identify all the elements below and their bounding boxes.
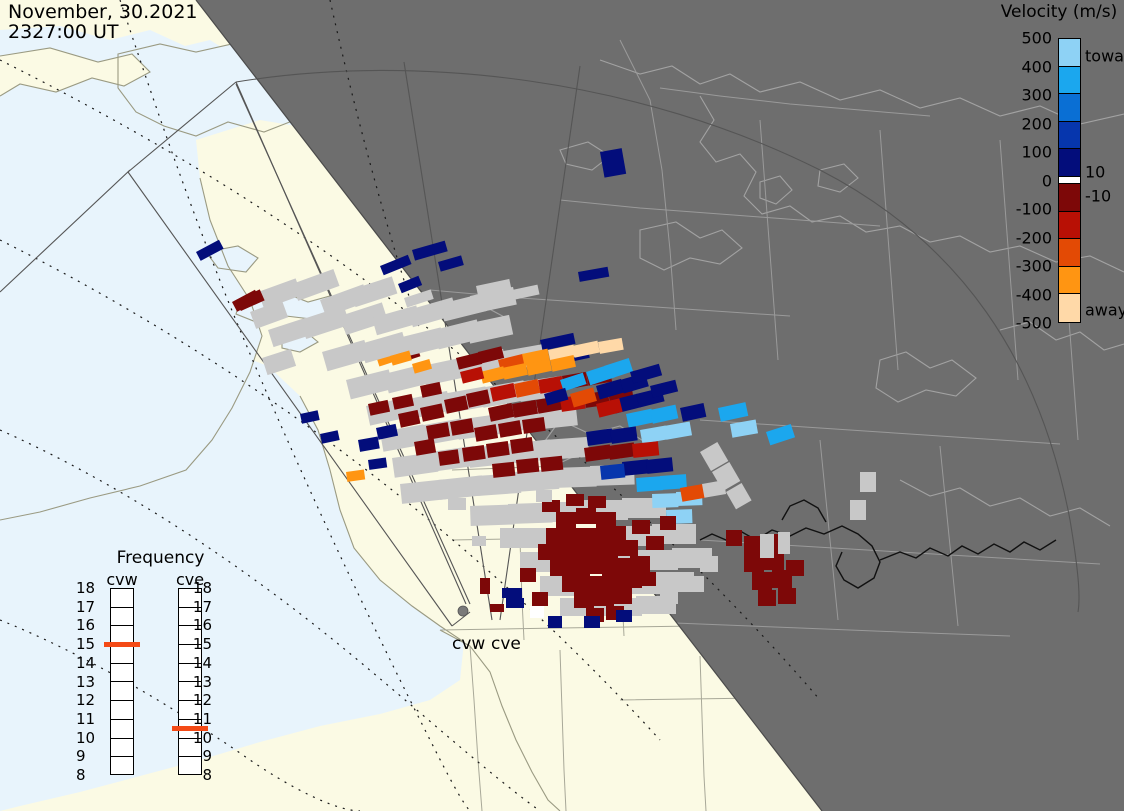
frequency-axis-label: 14 [76, 654, 95, 672]
colorbar-negative-threshold-label: -10 [1085, 187, 1111, 206]
frequency-scale-cvw [110, 588, 134, 775]
colorbar-positive-threshold-label: 10 [1085, 163, 1105, 182]
frequency-axis-label: 8 [202, 766, 212, 784]
colorbar-gradient [1058, 38, 1081, 323]
frequency-column-header-cvw: cvw [99, 570, 145, 589]
timestamp: November, 30.2021 2327:00 UT [8, 2, 198, 42]
frequency-axis-label: 9 [202, 747, 212, 765]
frequency-title: Frequency [78, 548, 243, 568]
colorbar-tick-400: 400 [1021, 57, 1052, 76]
colorbar-tick-500: 500 [1021, 29, 1052, 48]
colorbar-band-4 [1059, 149, 1080, 177]
frequency-cell [111, 682, 133, 701]
colorbar-tick-300: 300 [1021, 86, 1052, 105]
colorbar-tick--100: -100 [1016, 200, 1052, 219]
frequency-cell [179, 757, 201, 776]
colorbar-title: Velocity (m/s) [994, 2, 1124, 22]
colorbar-tick-0: 0 [1042, 171, 1052, 190]
frequency-axis-label: 11 [76, 710, 95, 728]
frequency-axis-label: 18 [76, 579, 95, 597]
frequency-axis-label: 15 [193, 635, 212, 653]
timestamp-time: 2327:00 UT [8, 21, 118, 43]
frequency-axis-label: 18 [193, 579, 212, 597]
timestamp-date: November, 30.2021 [8, 1, 198, 23]
colorbar-band-2 [1059, 94, 1080, 122]
site-label-cvw: cvw [452, 634, 485, 654]
frequency-axis-label: 16 [76, 616, 95, 634]
colorbar-tick-200: 200 [1021, 114, 1052, 133]
colorbar-band-9 [1059, 267, 1080, 295]
frequency-axis-label: 11 [193, 710, 212, 728]
radar-site-marker [458, 606, 468, 616]
colorbar-tick--200: -200 [1016, 228, 1052, 247]
colorbar-tick--500: -500 [1016, 314, 1052, 333]
colorbar-away-label: away [1085, 301, 1124, 320]
colorbar-band-6 [1059, 184, 1080, 212]
frequency-cell [111, 589, 133, 608]
frequency-cell [111, 608, 133, 627]
site-label-cve: cve [491, 634, 521, 654]
frequency-axis-label: 14 [193, 654, 212, 672]
frequency-axis-label: 13 [76, 673, 95, 691]
frequency-axis-label: 9 [76, 747, 86, 765]
frequency-axis-label: 16 [193, 616, 212, 634]
colorbar-toward-label: toward [1085, 47, 1124, 66]
colorbar-tick--300: -300 [1016, 257, 1052, 276]
velocity-colorbar: Velocity (m/s) 5004003002001000-100-200-… [1000, 0, 1124, 340]
frequency-axis-label: 17 [76, 598, 95, 616]
frequency-cell [111, 739, 133, 758]
frequency-axis-label: 17 [193, 598, 212, 616]
frequency-cell [111, 664, 133, 683]
frequency-marker-cvw [104, 642, 140, 647]
colorbar-band-7 [1059, 212, 1080, 240]
frequency-cell [111, 701, 133, 720]
frequency-axis-label: 15 [76, 635, 95, 653]
colorbar-band-3 [1059, 122, 1080, 150]
radar-map-figure: November, 30.2021 2327:00 UT Velocity (m… [0, 0, 1124, 811]
frequency-cell [111, 645, 133, 664]
colorbar-band-10 [1059, 294, 1080, 322]
frequency-axis-label: 8 [76, 766, 86, 784]
colorbar-tick-100: 100 [1021, 143, 1052, 162]
frequency-axis-label: 10 [193, 729, 212, 747]
colorbar-band-8 [1059, 239, 1080, 267]
frequency-axis-label: 12 [76, 691, 95, 709]
frequency-axis-label: 12 [193, 691, 212, 709]
frequency-cell [111, 757, 133, 776]
colorbar-band-0 [1059, 39, 1080, 67]
frequency-legend: Frequency cvwcve181817171616151514141313… [78, 548, 243, 788]
colorbar-tick--400: -400 [1016, 285, 1052, 304]
frequency-cell [111, 720, 133, 739]
frequency-axis-label: 10 [76, 729, 95, 747]
colorbar-band-1 [1059, 67, 1080, 95]
frequency-axis-label: 13 [193, 673, 212, 691]
colorbar-band-5 [1059, 177, 1080, 184]
